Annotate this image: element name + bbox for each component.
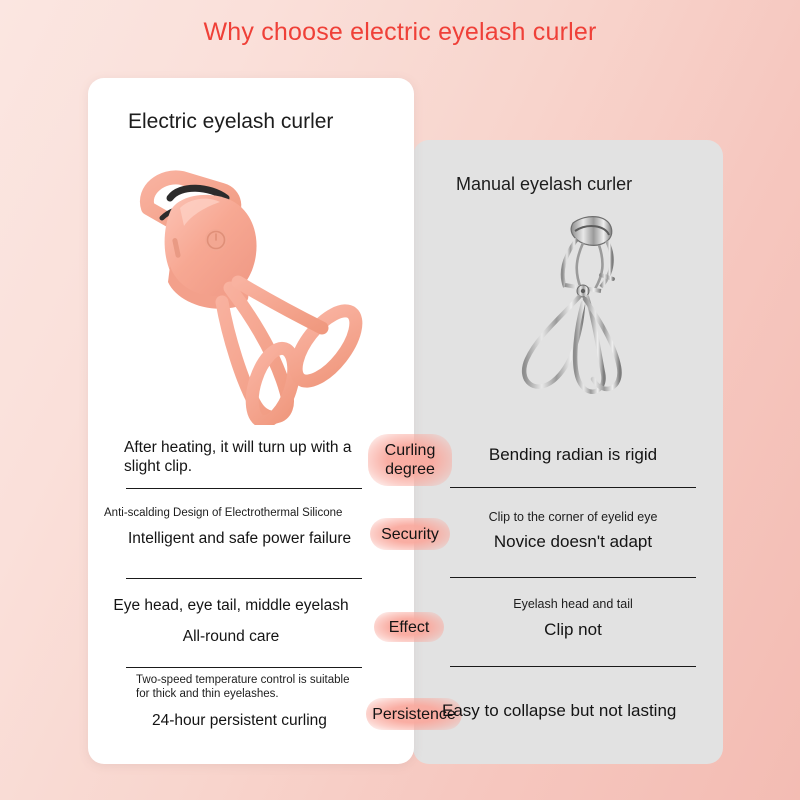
row-left-main: After heating, it will turn up with a sl… xyxy=(100,438,362,476)
row-left-main: 24-hour persistent curling xyxy=(136,711,362,730)
row-divider-left xyxy=(126,488,362,489)
row-divider-right xyxy=(450,487,696,488)
row-divider-left xyxy=(126,578,362,579)
row-left-caption: Two-speed temperature control is suitabl… xyxy=(136,674,362,701)
row-left-content: After heating, it will turn up with a sl… xyxy=(100,438,362,476)
electric-eyelash-curler-icon xyxy=(118,160,388,425)
row-left-content: Eye head, eye tail, middle eyelash All-r… xyxy=(102,596,360,646)
electric-card-heading: Electric eyelash curler xyxy=(128,110,333,134)
badge-effect: Effect xyxy=(374,612,444,642)
row-right-content: Eyelash head and tail Clip not xyxy=(440,597,706,640)
row-left-caption: Eye head, eye tail, middle eyelash xyxy=(102,596,360,615)
row-left-content: Two-speed temperature control is suitabl… xyxy=(136,674,362,730)
badge-security: Security xyxy=(370,518,450,550)
row-right-main: Easy to collapse but not lasting xyxy=(442,700,692,721)
row-left-main: Intelligent and safe power failure xyxy=(104,529,354,548)
row-right-content: Clip to the corner of eyelid eye Novice … xyxy=(440,510,706,552)
row-right-main: Clip not xyxy=(440,619,706,640)
row-right-content: Bending radian is rigid xyxy=(440,444,706,465)
row-right-caption: Eyelash head and tail xyxy=(440,597,706,611)
manual-eyelash-curler-icon xyxy=(495,205,665,410)
row-right-main: Bending radian is rigid xyxy=(440,444,706,465)
infographic-canvas: Why choose electric eyelash curler Elect… xyxy=(0,0,800,800)
page-title: Why choose electric eyelash curler xyxy=(0,18,800,47)
row-right-caption: Clip to the corner of eyelid eye xyxy=(440,510,706,524)
row-right-main: Novice doesn't adapt xyxy=(440,531,706,552)
row-divider-left xyxy=(126,667,362,668)
row-left-caption: Anti-scalding Design of Electrothermal S… xyxy=(104,507,354,521)
row-left-content: Anti-scalding Design of Electrothermal S… xyxy=(104,507,354,548)
row-left-main: All-round care xyxy=(102,627,360,646)
row-divider-right xyxy=(450,666,696,667)
row-right-content: Easy to collapse but not lasting xyxy=(442,700,692,721)
row-divider-right xyxy=(450,577,696,578)
manual-card-heading: Manual eyelash curler xyxy=(456,174,632,195)
